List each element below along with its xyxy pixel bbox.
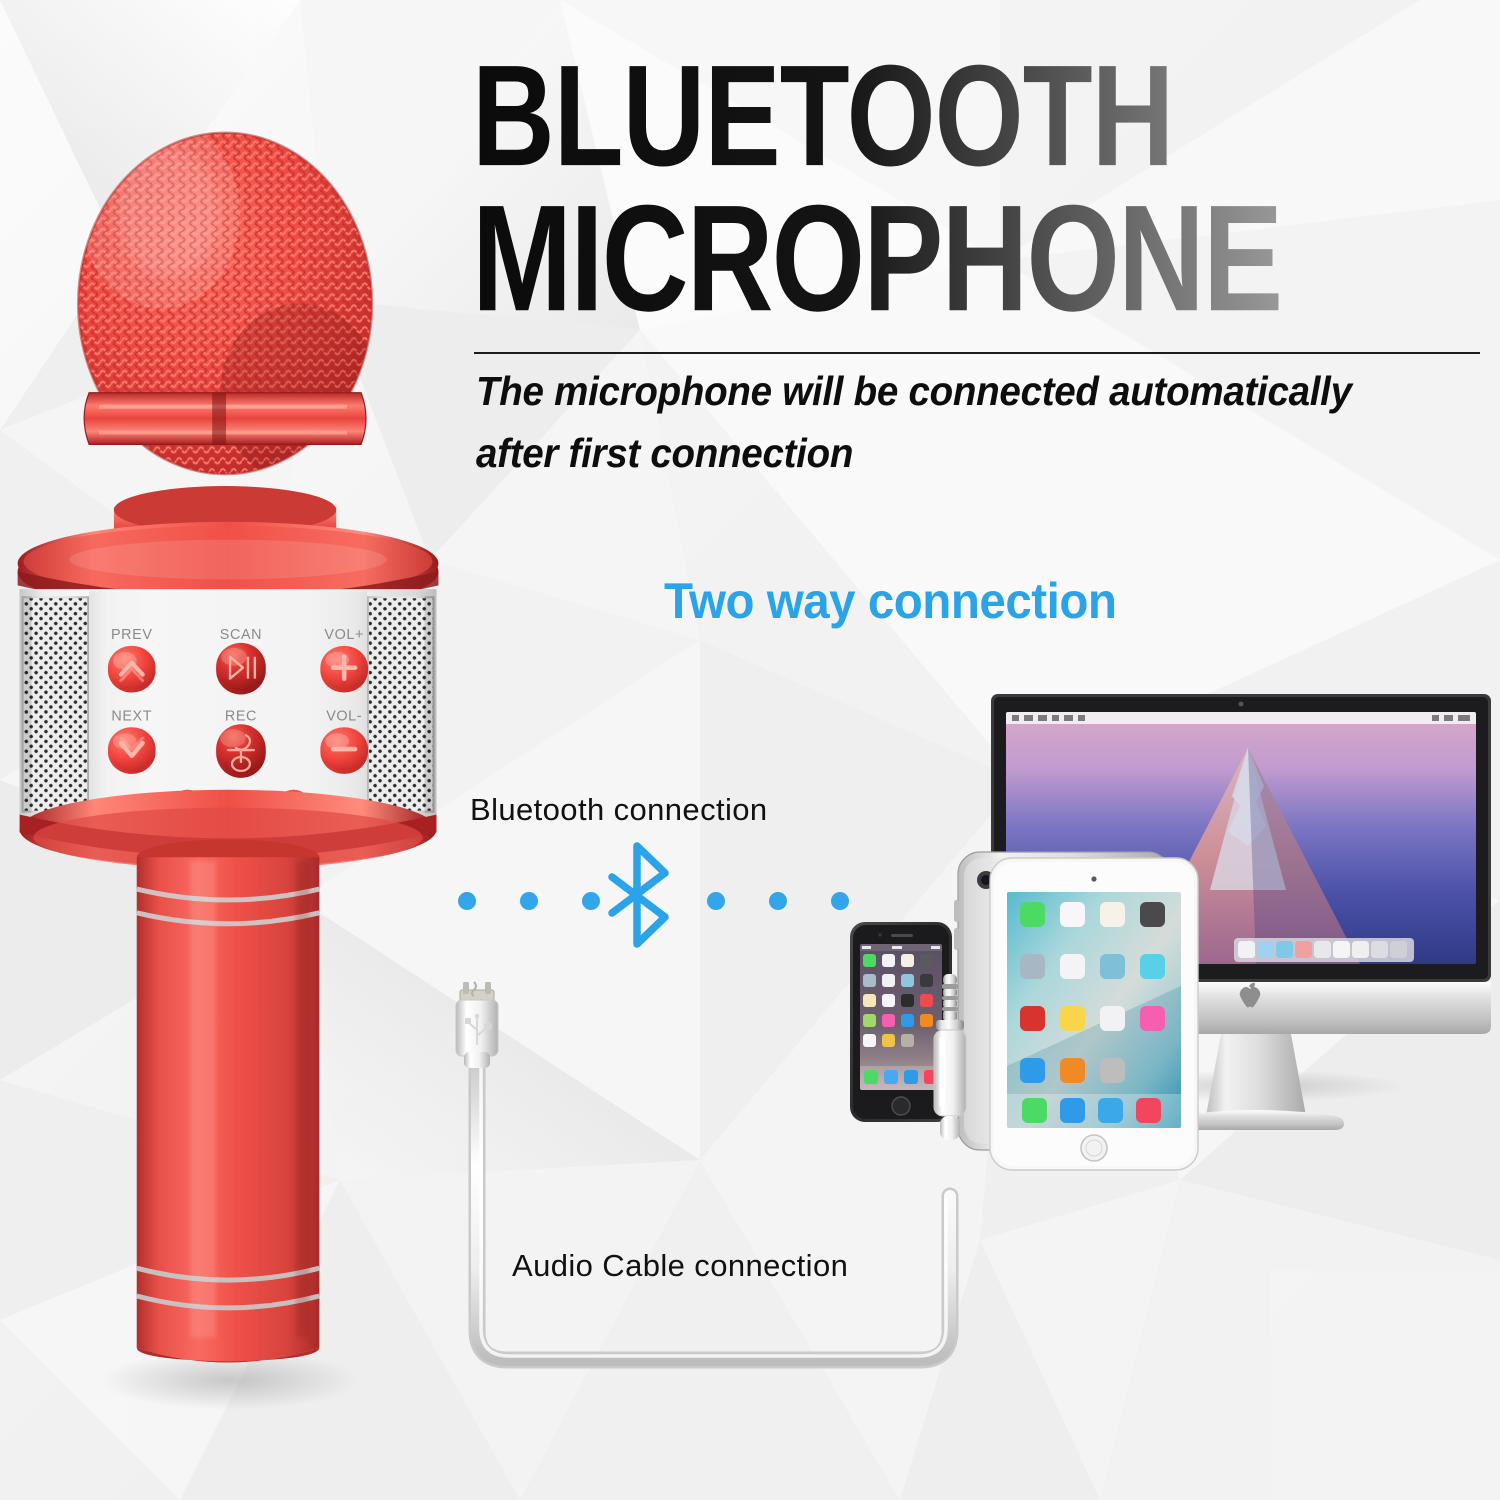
headline-block: BLUETOOTH MICROPHONE [472,48,1482,306]
product-image-canvas: BLUETOOTH MICROPHONE The microphone will… [0,0,1500,1500]
bluetooth-dot-left-1 [458,892,476,910]
speaker-grille-left [22,596,89,812]
ipad-home-button [1081,1135,1107,1161]
audio-cable [380,960,1020,1500]
two-way-connection-heading: Two way connection [664,572,1116,630]
subtitle-line-1: The microphone will be connected automat… [476,362,1435,420]
control-label-volume-up: VOL+ [324,627,364,643]
microphone-head-band [84,393,366,445]
ipad-device [990,858,1198,1170]
scan-button[interactable] [216,643,266,695]
control-label-volume-down: VOL- [326,708,362,724]
control-label-next: NEXT [111,708,152,724]
bluetooth-dot-right-1 [707,892,725,910]
volume-down-button[interactable] [320,727,368,774]
title-divider [474,352,1480,354]
prev-button[interactable] [108,646,156,693]
bluetooth-icon [592,840,682,950]
microphone-handle [137,839,320,1362]
page-title-line-1: BLUETOOTH [472,48,1452,186]
rec-button[interactable] [216,724,266,778]
subtitle-line-2: after first connection [476,424,1435,482]
volume-up-button[interactable] [320,646,368,693]
audio-jack-plug-icon [934,974,966,1140]
bluetooth-dot-right-2 [769,892,787,910]
ipad-home-screen-icons [1007,892,1181,1128]
bluetooth-dot-right-3 [831,892,849,910]
audio-cable-connection-label: Audio Cable connection [512,1248,848,1284]
bluetooth-dot-left-2 [520,892,538,910]
bluetooth-connection-label: Bluetooth connection [470,792,768,828]
next-button[interactable] [108,727,156,774]
page-title-line-2: MICROPHONE [472,187,1452,332]
speaker-grille-right [367,596,434,812]
control-label-scan: SCAN [220,627,262,643]
control-label-prev: PREV [111,627,153,643]
control-label-rec: REC [225,708,257,724]
bluetooth-microphone-product: PREV SCAN VOL+ NEXT REC VOL- [0,95,470,1425]
